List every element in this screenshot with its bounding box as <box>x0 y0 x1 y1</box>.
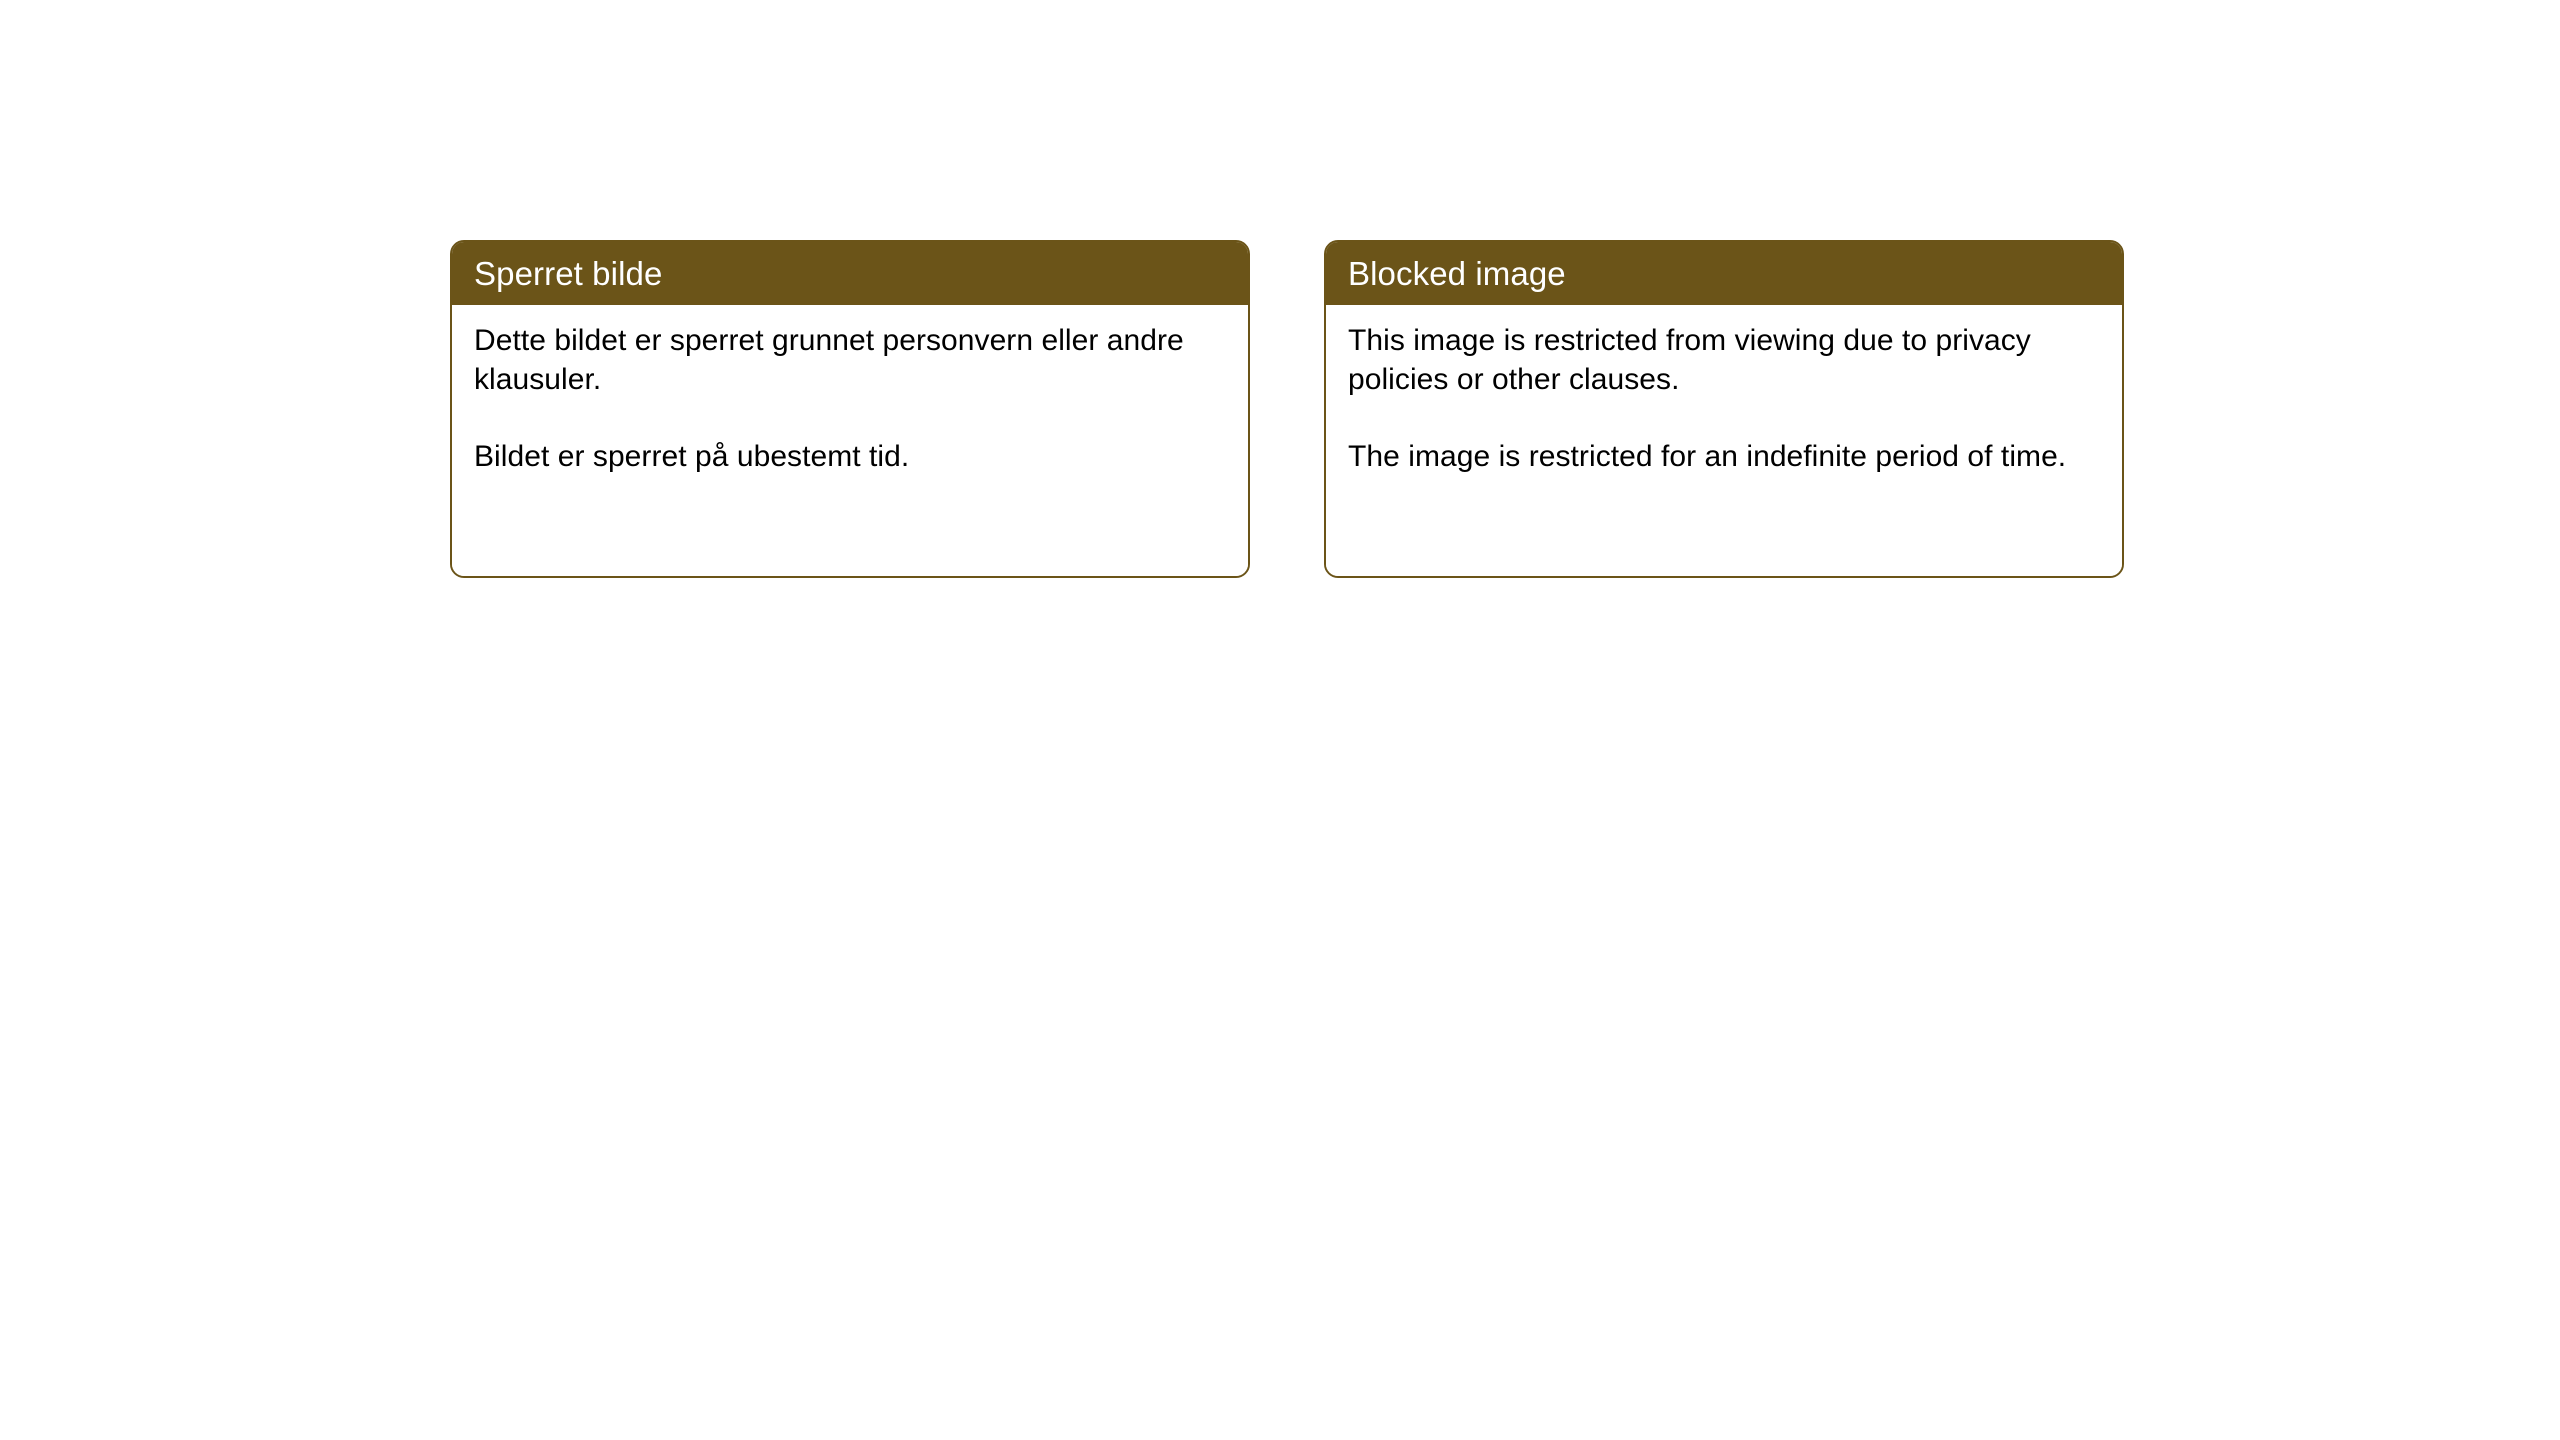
blocked-image-notice-card-english: Blocked image This image is restricted f… <box>1324 240 2124 578</box>
notice-paragraph-duration: The image is restricted for an indefinit… <box>1348 437 2096 476</box>
blocked-image-notice-card-norwegian: Sperret bilde Dette bildet er sperret gr… <box>450 240 1250 578</box>
notice-paragraph-duration: Bildet er sperret på ubestemt tid. <box>474 437 1222 476</box>
card-title: Sperret bilde <box>474 257 662 290</box>
notice-paragraph-reason: This image is restricted from viewing du… <box>1348 321 2096 399</box>
card-title: Blocked image <box>1348 257 1566 290</box>
page-canvas: Sperret bilde Dette bildet er sperret gr… <box>0 0 2560 1440</box>
card-body: Dette bildet er sperret grunnet personve… <box>452 305 1248 576</box>
card-header-bar: Sperret bilde <box>452 242 1248 305</box>
notice-paragraph-reason: Dette bildet er sperret grunnet personve… <box>474 321 1222 399</box>
card-header-bar: Blocked image <box>1326 242 2122 305</box>
card-body: This image is restricted from viewing du… <box>1326 305 2122 576</box>
